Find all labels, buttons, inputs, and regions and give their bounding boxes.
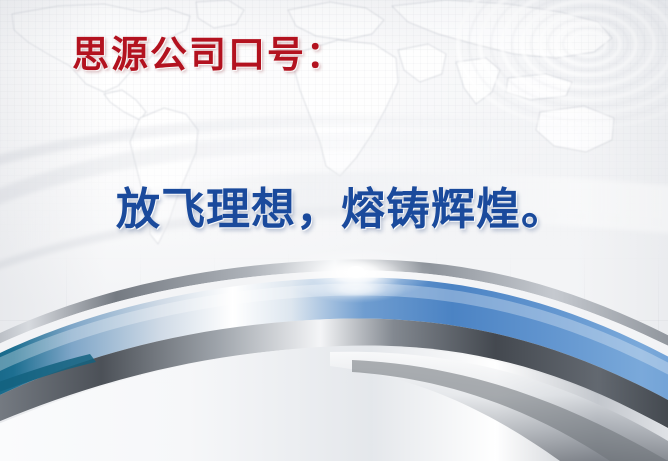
slide-canvas: 思源公司口号： 放飞理想，熔铸辉煌。	[0, 0, 668, 461]
slogan-text: 放飞理想，熔铸辉煌。	[116, 186, 566, 234]
page-title: 思源公司口号：	[72, 36, 345, 77]
